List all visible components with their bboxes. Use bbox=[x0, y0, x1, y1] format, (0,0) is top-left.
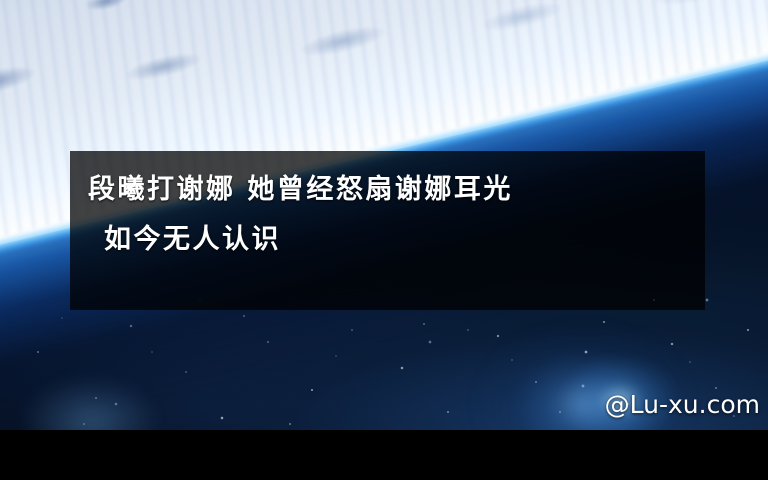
caption-overlay-panel: 段曦打谢娜 她曾经怒扇谢娜耳光 如今无人认识 bbox=[70, 151, 705, 310]
bottom-letterbox-bar bbox=[0, 430, 768, 480]
caption-line-2: 如今无人认识 bbox=[88, 215, 687, 265]
screenshot-stage: 段曦打谢娜 她曾经怒扇谢娜耳光 如今无人认识 @Lu-xu.com bbox=[0, 0, 768, 480]
caption-line-1: 段曦打谢娜 她曾经怒扇谢娜耳光 bbox=[88, 165, 687, 215]
site-watermark: @Lu-xu.com bbox=[605, 390, 760, 419]
orbital-earth-photo: 段曦打谢娜 她曾经怒扇谢娜耳光 如今无人认识 @Lu-xu.com bbox=[0, 0, 768, 430]
